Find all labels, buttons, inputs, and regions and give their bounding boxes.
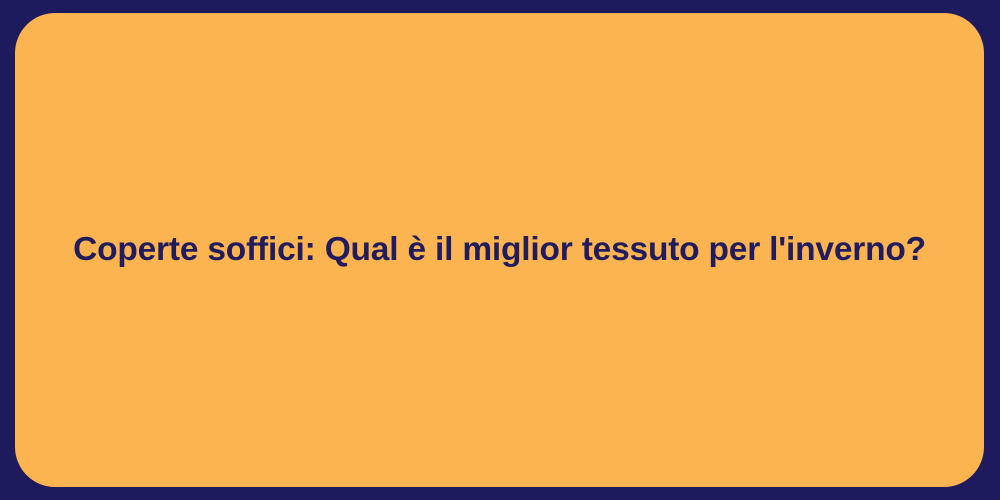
poster-card: Coperte soffici: Qual è il miglior tessu… <box>15 13 984 487</box>
page-title: Coperte soffici: Qual è il miglior tessu… <box>73 227 926 272</box>
poster-frame: Coperte soffici: Qual è il miglior tessu… <box>0 0 1000 500</box>
